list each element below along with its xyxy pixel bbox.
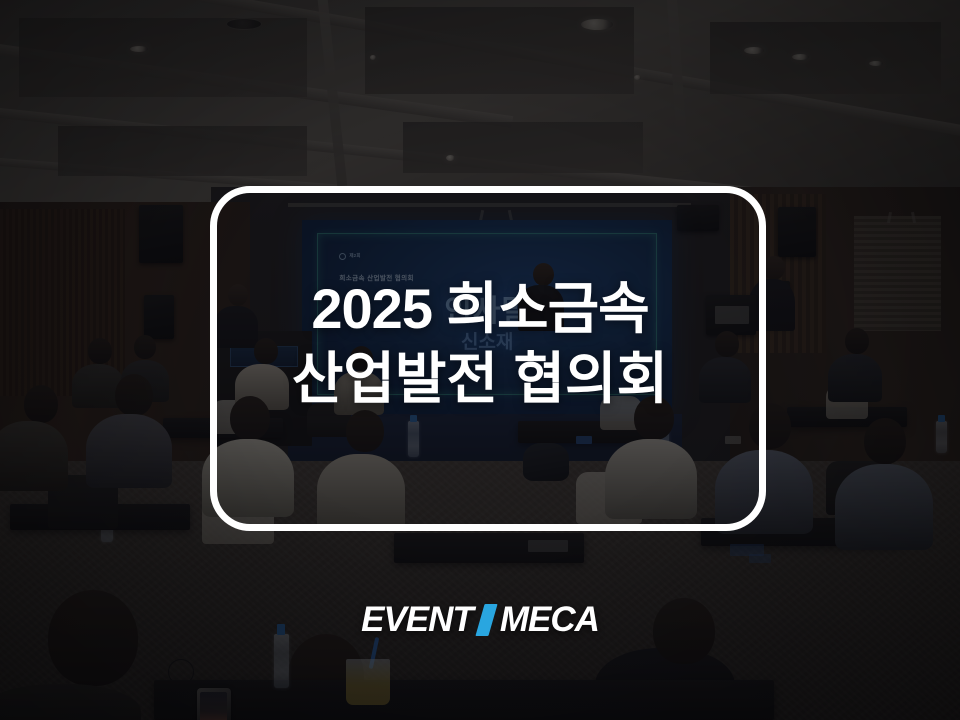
brand-logo-text-right: MECA [500, 600, 599, 640]
poster-title-line2: 산업발전 협의회 [0, 344, 960, 414]
poster-title-line1: 2025 희소금속 [0, 274, 960, 344]
event-poster: 제2회 희소금속 산업발전 협의회 인사말 신소재 [0, 0, 960, 720]
brand-logo: EVENT MECA [0, 600, 960, 640]
brand-logo-text-left: EVENT [361, 600, 473, 640]
brand-logo-slash-icon [475, 604, 497, 636]
poster-title: 2025 희소금속 산업발전 협의회 [0, 274, 960, 414]
